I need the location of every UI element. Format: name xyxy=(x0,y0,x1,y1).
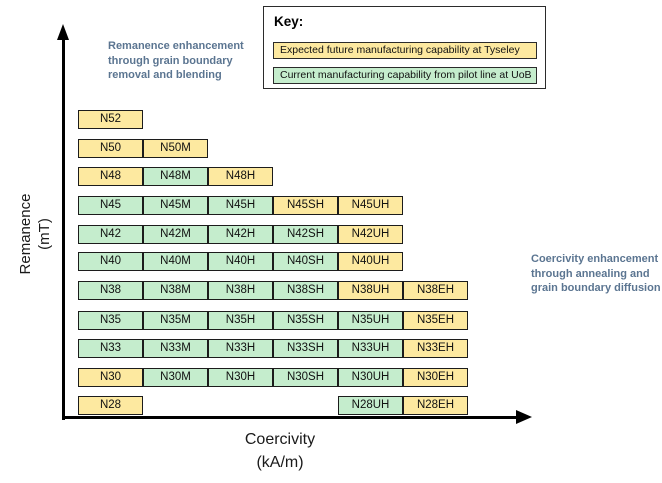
grade-cell-n33m[interactable]: N33M xyxy=(143,339,208,358)
grade-cell-n42sh[interactable]: N42SH xyxy=(273,225,338,244)
grade-cell-n40m[interactable]: N40M xyxy=(143,252,208,271)
grade-cell-n28[interactable]: N28 xyxy=(78,396,143,415)
grade-cell-n30uh[interactable]: N30UH xyxy=(338,368,403,387)
grade-cell-n48[interactable]: N48 xyxy=(78,167,143,186)
grade-cell-n33[interactable]: N33 xyxy=(78,339,143,358)
grade-cell-n42h[interactable]: N42H xyxy=(208,225,273,244)
grade-cell-n38[interactable]: N38 xyxy=(78,281,143,300)
grade-cell-n52[interactable]: N52 xyxy=(78,110,143,129)
grade-grid: N52N50N50MN48N48MN48HN45N45MN45HN45SHN45… xyxy=(0,0,662,483)
grade-cell-n35sh[interactable]: N35SH xyxy=(273,311,338,330)
grade-cell-n30eh[interactable]: N30EH xyxy=(403,368,468,387)
grade-cell-n38uh[interactable]: N38UH xyxy=(338,281,403,300)
grade-cell-n42[interactable]: N42 xyxy=(78,225,143,244)
grade-cell-n40[interactable]: N40 xyxy=(78,252,143,271)
grade-cell-n42uh[interactable]: N42UH xyxy=(338,225,403,244)
grade-cell-n30[interactable]: N30 xyxy=(78,368,143,387)
grade-cell-n35eh[interactable]: N35EH xyxy=(403,311,468,330)
chart-canvas: Remanence (mT) Coercivity (kA/m) Remanen… xyxy=(0,0,662,483)
grade-cell-n40h[interactable]: N40H xyxy=(208,252,273,271)
grade-cell-n28uh[interactable]: N28UH xyxy=(338,396,403,415)
grade-cell-n35uh[interactable]: N35UH xyxy=(338,311,403,330)
grade-cell-n38h[interactable]: N38H xyxy=(208,281,273,300)
grade-cell-n50[interactable]: N50 xyxy=(78,139,143,158)
grade-cell-n40sh[interactable]: N40SH xyxy=(273,252,338,271)
grade-cell-n40uh[interactable]: N40UH xyxy=(338,252,403,271)
grade-cell-n35m[interactable]: N35M xyxy=(143,311,208,330)
grade-cell-n45sh[interactable]: N45SH xyxy=(273,196,338,215)
grade-cell-n45[interactable]: N45 xyxy=(78,196,143,215)
grade-cell-n33h[interactable]: N33H xyxy=(208,339,273,358)
grade-cell-n38eh[interactable]: N38EH xyxy=(403,281,468,300)
grade-cell-n38sh[interactable]: N38SH xyxy=(273,281,338,300)
grade-cell-n35h[interactable]: N35H xyxy=(208,311,273,330)
grade-cell-n48m[interactable]: N48M xyxy=(143,167,208,186)
grade-cell-n30h[interactable]: N30H xyxy=(208,368,273,387)
grade-cell-n30sh[interactable]: N30SH xyxy=(273,368,338,387)
grade-cell-n33eh[interactable]: N33EH xyxy=(403,339,468,358)
grade-cell-n33sh[interactable]: N33SH xyxy=(273,339,338,358)
grade-cell-n45m[interactable]: N45M xyxy=(143,196,208,215)
grade-cell-n42m[interactable]: N42M xyxy=(143,225,208,244)
grade-cell-n30m[interactable]: N30M xyxy=(143,368,208,387)
grade-cell-n48h[interactable]: N48H xyxy=(208,167,273,186)
grade-cell-n45h[interactable]: N45H xyxy=(208,196,273,215)
grade-cell-n38m[interactable]: N38M xyxy=(143,281,208,300)
grade-cell-n50m[interactable]: N50M xyxy=(143,139,208,158)
grade-cell-n35[interactable]: N35 xyxy=(78,311,143,330)
grade-cell-n45uh[interactable]: N45UH xyxy=(338,196,403,215)
grade-cell-n28eh[interactable]: N28EH xyxy=(403,396,468,415)
grade-cell-n33uh[interactable]: N33UH xyxy=(338,339,403,358)
